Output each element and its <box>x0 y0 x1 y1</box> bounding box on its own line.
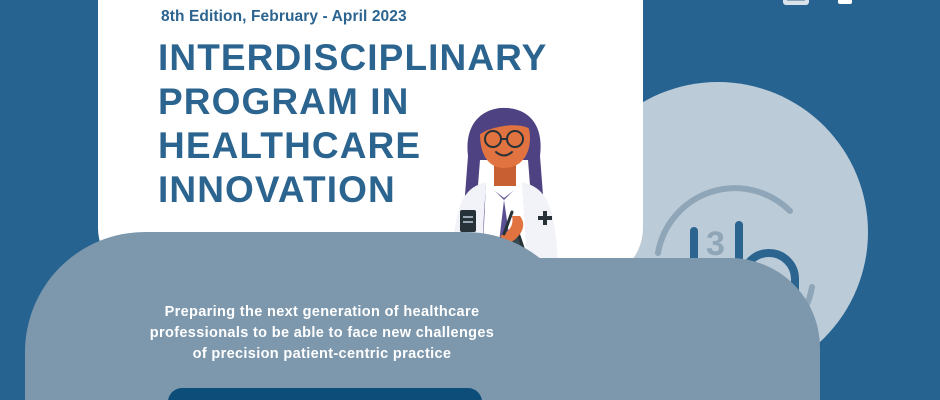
subtitle-line-1: Preparing the next generation of healthc… <box>72 302 572 323</box>
headline-line-4: INNOVATION <box>158 168 578 212</box>
headline-line-2: PROGRAM IN <box>158 80 578 124</box>
square-icon[interactable] <box>838 0 852 4</box>
headline-line-3: HEALTHCARE <box>158 124 578 168</box>
banner-canvas: 3 <box>0 0 940 400</box>
subtitle-text: Preparing the next generation of healthc… <box>72 302 572 365</box>
headline-line-1: INTERDISCIPLINARY <box>158 36 578 80</box>
edition-eyebrow: 8th Edition, February - April 2023 <box>161 8 407 26</box>
subtitle-line-2: professionals to be able to face new cha… <box>72 323 572 344</box>
subtitle-line-3: of precision patient-centric practice <box>72 344 572 365</box>
card-icon[interactable] <box>783 0 809 5</box>
card-icon-line <box>787 0 805 1</box>
page-title: INTERDISCIPLINARY PROGRAM IN HEALTHCARE … <box>158 36 578 212</box>
cta-button[interactable] <box>168 388 482 400</box>
